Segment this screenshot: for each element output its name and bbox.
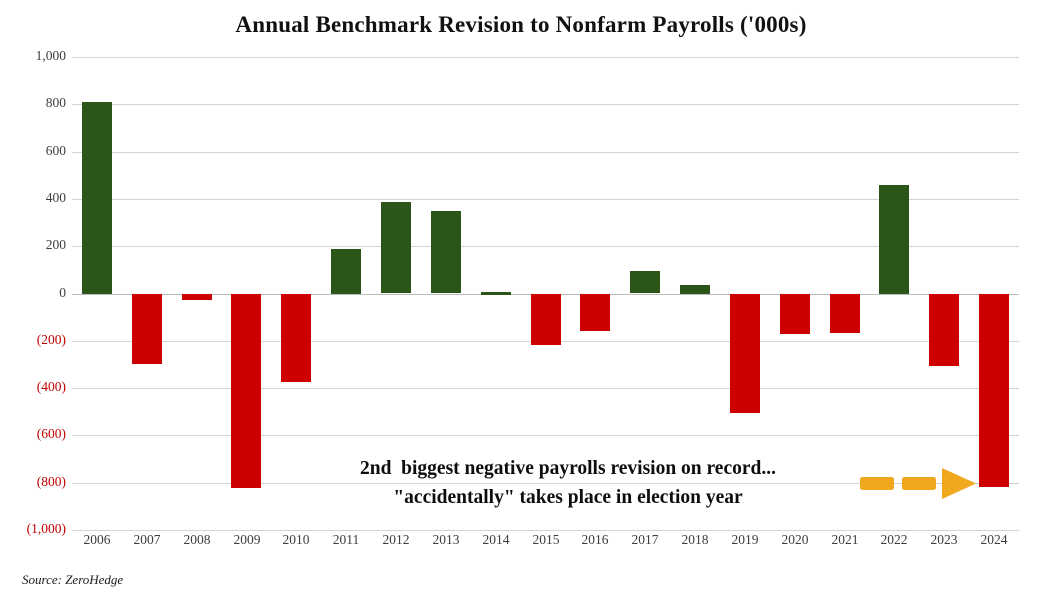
x-axis-line <box>72 530 1019 531</box>
bar-2020[interactable] <box>780 294 810 334</box>
bar-2017[interactable] <box>630 271 660 293</box>
x-axis-tick-label-2009: 2009 <box>222 532 272 548</box>
gridline <box>72 199 1019 200</box>
bar-2015[interactable] <box>531 294 561 345</box>
y-axis-tick-label: 600 <box>4 143 66 159</box>
y-axis-tick-label: (1,000) <box>4 521 66 537</box>
bar-2023[interactable] <box>929 294 959 366</box>
bar-2016[interactable] <box>580 294 610 331</box>
x-axis-tick-label-2006: 2006 <box>72 532 122 548</box>
x-axis-tick-label-2016: 2016 <box>570 532 620 548</box>
bar-2024[interactable] <box>979 294 1009 487</box>
x-axis-tick-label-2017: 2017 <box>620 532 670 548</box>
bar-2011[interactable] <box>331 249 361 294</box>
y-axis-tick-label: 1,000 <box>4 48 66 64</box>
x-axis-tick-label-2019: 2019 <box>720 532 770 548</box>
annotation-line-1: 2nd biggest negative payrolls revision o… <box>283 454 853 483</box>
gridline <box>72 104 1019 105</box>
y-axis-tick-label: (200) <box>4 332 66 348</box>
bar-2022[interactable] <box>879 185 909 294</box>
x-axis-tick-label-2012: 2012 <box>371 532 421 548</box>
x-axis-tick-label-2013: 2013 <box>421 532 471 548</box>
bar-2006[interactable] <box>82 102 112 294</box>
bar-2012[interactable] <box>381 202 411 293</box>
y-axis-tick-label: 400 <box>4 190 66 206</box>
annotation-callout: 2nd biggest negative payrolls revision o… <box>283 454 853 512</box>
x-axis-tick-label-2015: 2015 <box>521 532 571 548</box>
y-axis-tick-label: (800) <box>4 474 66 490</box>
x-axis-tick-label-2007: 2007 <box>122 532 172 548</box>
annotation-line-2: "accidentally" takes place in election y… <box>283 483 853 512</box>
x-axis-tick-label-2023: 2023 <box>919 532 969 548</box>
bar-2008[interactable] <box>182 294 212 300</box>
gridline <box>72 57 1019 58</box>
source-caption: Source: ZeroHedge <box>22 572 123 588</box>
x-axis-tick-label-2011: 2011 <box>321 532 371 548</box>
gridline <box>72 246 1019 247</box>
bar-2013[interactable] <box>431 211 461 293</box>
y-axis-tick-label: 200 <box>4 237 66 253</box>
x-axis: 2006200720082009201020112012201320142015… <box>72 532 1019 556</box>
y-axis-tick-label: (600) <box>4 426 66 442</box>
gridline <box>72 435 1019 436</box>
dashed-arrow-right-icon <box>858 468 980 500</box>
bar-2010[interactable] <box>281 294 311 382</box>
chart-title: Annual Benchmark Revision to Nonfarm Pay… <box>0 12 1042 38</box>
y-axis-tick-label: 800 <box>4 95 66 111</box>
x-axis-tick-label-2014: 2014 <box>471 532 521 548</box>
gridline <box>72 152 1019 153</box>
x-axis-tick-label-2018: 2018 <box>670 532 720 548</box>
x-axis-tick-label-2008: 2008 <box>172 532 222 548</box>
bar-2009[interactable] <box>231 294 261 488</box>
y-axis: 1,0008006004002000(200)(400)(600)(800)(1… <box>0 57 66 530</box>
x-axis-tick-label-2020: 2020 <box>770 532 820 548</box>
bar-2018[interactable] <box>680 285 710 294</box>
bar-2019[interactable] <box>730 294 760 413</box>
bar-2021[interactable] <box>830 294 860 333</box>
chart-container: Annual Benchmark Revision to Nonfarm Pay… <box>0 0 1042 599</box>
gridline <box>72 388 1019 389</box>
x-axis-tick-label-2022: 2022 <box>869 532 919 548</box>
x-axis-tick-label-2021: 2021 <box>820 532 870 548</box>
x-axis-tick-label-2010: 2010 <box>271 532 321 548</box>
bar-2007[interactable] <box>132 294 162 364</box>
y-axis-tick-label: (400) <box>4 379 66 395</box>
y-axis-tick-label: 0 <box>4 285 66 301</box>
x-axis-tick-label-2024: 2024 <box>969 532 1019 548</box>
bar-2014[interactable] <box>481 292 511 295</box>
